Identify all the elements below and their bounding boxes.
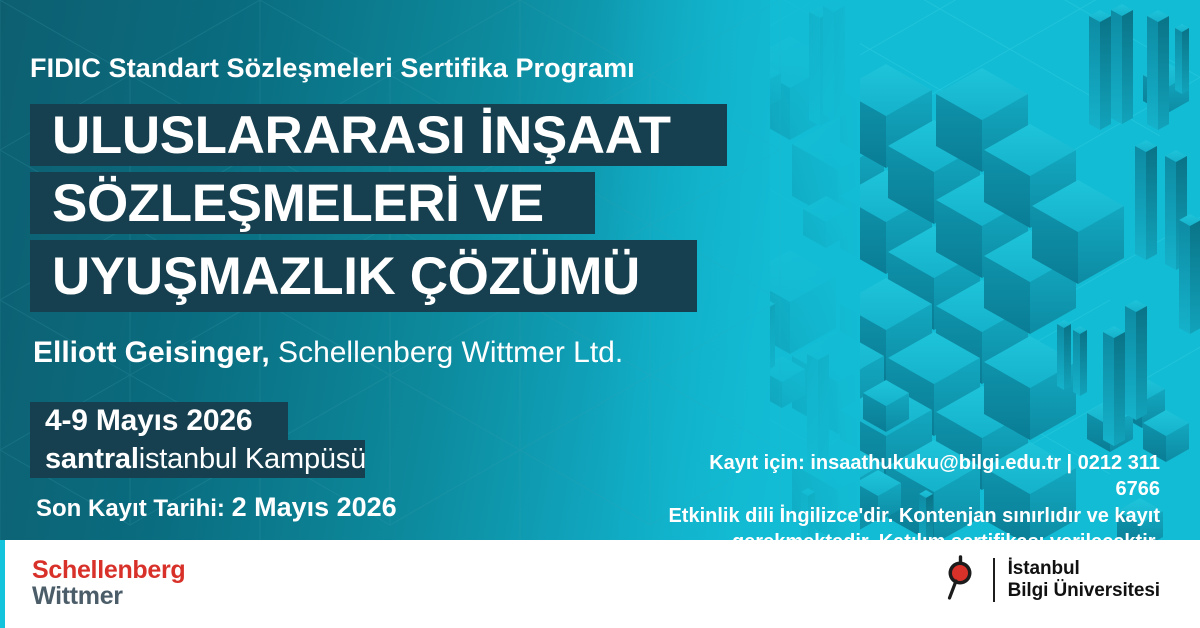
headline-block-3: UYUŞMAZLIK ÇÖZÜMÜ bbox=[30, 240, 697, 312]
event-venue: santralistanbul Kampüsü bbox=[45, 443, 366, 476]
headline-block-2: SÖZLEŞMELERİ VE bbox=[30, 172, 595, 234]
speaker-name: Elliott Geisinger, bbox=[33, 336, 270, 369]
program-kicker: FIDIC Standart Sözleşmeleri Sertifika Pr… bbox=[30, 53, 635, 84]
logo-line-schellenberg: Schellenberg bbox=[32, 557, 185, 583]
contact-line-1: Kayıt için: insaathukuku@bilgi.edu.tr | … bbox=[660, 450, 1160, 503]
logo-line-wittmer: Wittmer bbox=[32, 583, 185, 609]
bilgi-university-logo: İstanbul Bilgi Üniversitesi bbox=[940, 554, 1160, 606]
event-banner: FIDIC Standart Sözleşmeleri Sertifika Pr… bbox=[0, 0, 1200, 628]
event-date: 4-9 Mayıs 2026 bbox=[45, 404, 252, 438]
venue-rest: istanbul Kampüsü bbox=[139, 443, 366, 475]
speaker-line: Elliott Geisinger, Schellenberg Wittmer … bbox=[33, 336, 623, 370]
footer-accent-stripe bbox=[0, 540, 5, 628]
bilgi-line-1: İstanbul bbox=[1008, 558, 1160, 580]
footer-bar: Schellenberg Wittmer İstanbul Bilgi Üniv… bbox=[0, 540, 1200, 628]
speaker-affiliation: Schellenberg Wittmer Ltd. bbox=[270, 336, 623, 369]
venue-brand: santral bbox=[45, 443, 139, 475]
registration-deadline: Son Kayıt Tarihi: 2 Mayıs 2026 bbox=[36, 492, 397, 523]
contact-line-2: Etkinlik dili İngilizce'dir. Kontenjan s… bbox=[660, 503, 1160, 529]
headline-line-1: ULUSLARARASI İNŞAAT bbox=[30, 109, 671, 162]
schellenberg-wittmer-logo: Schellenberg Wittmer bbox=[32, 557, 185, 609]
bilgi-logo-text: İstanbul Bilgi Üniversitesi bbox=[1008, 558, 1160, 603]
deadline-label: Son Kayıt Tarihi: bbox=[36, 495, 225, 522]
headline-block-1: ULUSLARARASI İNŞAAT bbox=[30, 104, 727, 166]
bilgi-mark-icon bbox=[940, 554, 980, 606]
logo-divider bbox=[993, 558, 995, 602]
bilgi-line-2: Bilgi Üniversitesi bbox=[1008, 580, 1160, 602]
deadline-value: 2 Mayıs 2026 bbox=[232, 492, 397, 522]
headline-line-2: SÖZLEŞMELERİ VE bbox=[30, 177, 544, 230]
headline-line-3: UYUŞMAZLIK ÇÖZÜMÜ bbox=[30, 250, 640, 303]
